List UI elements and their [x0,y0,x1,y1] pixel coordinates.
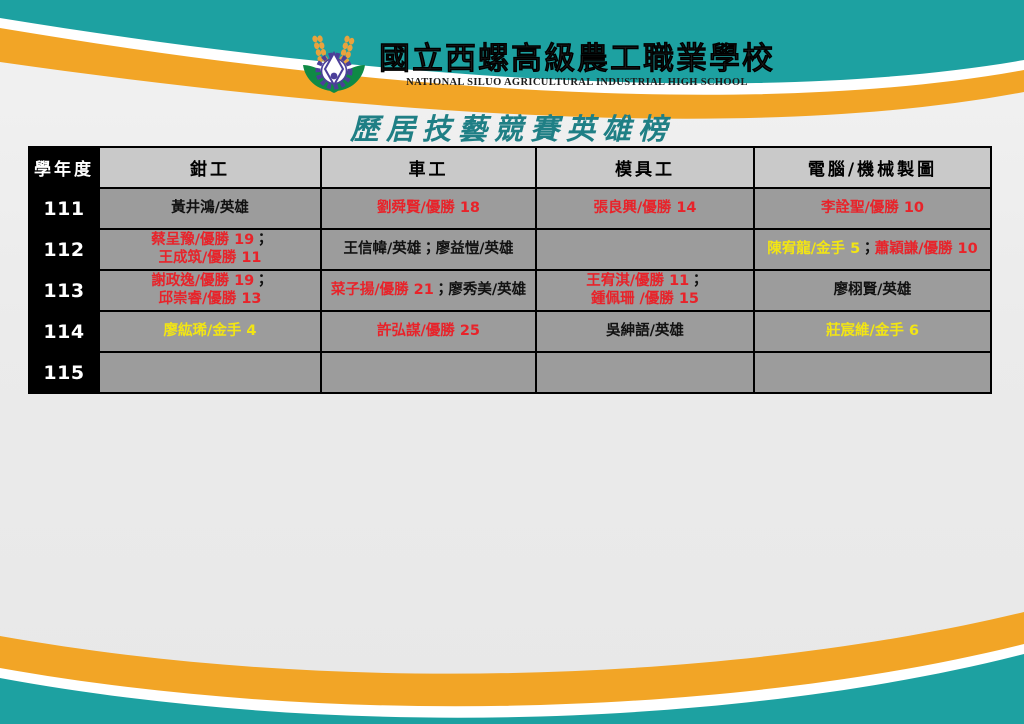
heroes-table-container: 學年度鉗工車工模具工電腦/機械製圖 111黃井鴻/英雄劉舜賢/優勝 18張良興/… [28,146,990,394]
award-cell [536,352,754,393]
year-cell: 112 [29,229,99,270]
entry-separator: ； [434,282,449,298]
table-row: 112蔡呈豫/優勝 19；王成筑/優勝 11王信幃/英雄；廖益愷/英雄陳宥龍/金… [29,229,991,270]
award-cell: 許弘謀/優勝 25 [321,311,536,352]
school-name-zh: 國立西螺高級農工職業學校 [379,44,775,75]
bottom-teal-band [0,654,1024,724]
column-header-year: 學年度 [29,147,99,188]
award-entry: 王成筑/優勝 11 [158,250,261,266]
school-crest-icon [295,33,373,99]
award-entry: 陳宥龍/金手 5 [767,241,860,257]
year-cell: 115 [29,352,99,393]
bottom-white-gap [0,644,1024,722]
year-cell: 111 [29,188,99,229]
award-entry: 黃井鴻/英雄 [171,200,249,216]
award-cell: 王宥淇/優勝 11；鍾佩珊 /優勝 15 [536,270,754,311]
bottom-orange-band [0,612,1024,710]
award-cell: 陳宥龍/金手 5；蕭穎謙/優勝 10 [754,229,991,270]
table-head: 學年度鉗工車工模具工電腦/機械製圖 [29,147,991,188]
column-header-4: 電腦/機械製圖 [754,147,991,188]
award-cell: 廖栩賢/英雄 [754,270,991,311]
award-entry: 謝政逸/優勝 19 [151,273,254,289]
award-entry: 鍾佩珊 /優勝 15 [591,291,699,307]
award-cell: 菜子揚/優勝 21；廖秀美/英雄 [321,270,536,311]
award-entry: 菜子揚/優勝 21 [331,282,434,298]
page-title: 歷居技藝競賽英雄榜 [0,106,1024,148]
entry-separator: ； [254,232,269,248]
award-entry: 吳紳語/英雄 [606,323,684,339]
award-cell: 王信幃/英雄；廖益愷/英雄 [321,229,536,270]
award-entry: 莊宸維/金手 6 [826,323,919,339]
column-header-1: 鉗工 [99,147,321,188]
entry-separator: ； [689,273,704,289]
school-name-block: 國立西螺高級農工職業學校 NATIONAL SILUO AGRICULTURAL… [379,44,775,89]
school-crest-svg [295,33,373,99]
award-entry: 邱崇睿/優勝 13 [158,291,261,307]
entry-separator: ； [860,241,875,257]
table-row: 114廖紘琋/金手 4許弘謀/優勝 25吳紳語/英雄莊宸維/金手 6 [29,311,991,352]
award-cell [321,352,536,393]
award-entry: 廖栩賢/英雄 [834,282,912,298]
award-cell [99,352,321,393]
award-cell: 黃井鴻/英雄 [99,188,321,229]
school-branding: 國立西螺高級農工職業學校 NATIONAL SILUO AGRICULTURAL… [295,33,775,99]
award-cell: 劉舜賢/優勝 18 [321,188,536,229]
slide-canvas: 國立西螺高級農工職業學校 NATIONAL SILUO AGRICULTURAL… [0,0,1024,724]
award-entry: 王宥淇/優勝 11 [586,273,689,289]
award-cell: 謝政逸/優勝 19；邱崇睿/優勝 13 [99,270,321,311]
table-header-row: 學年度鉗工車工模具工電腦/機械製圖 [29,147,991,188]
award-entry: 蔡呈豫/優勝 19 [151,232,254,248]
award-cell: 蔡呈豫/優勝 19；王成筑/優勝 11 [99,229,321,270]
award-entry: 劉舜賢/優勝 18 [377,200,480,216]
table-row: 111黃井鴻/英雄劉舜賢/優勝 18張良興/優勝 14李詮聖/優勝 10 [29,188,991,229]
entry-separator: ； [254,273,269,289]
award-entry: 王信幃/英雄；廖益愷/英雄 [343,241,513,257]
award-entry: 廖紘琋/金手 4 [164,323,257,339]
award-cell: 廖紘琋/金手 4 [99,311,321,352]
award-entry: 許弘謀/優勝 25 [377,323,480,339]
award-entry: 張良興/優勝 14 [593,200,696,216]
table-row: 115 [29,352,991,393]
header-bar: 國立西螺高級農工職業學校 NATIONAL SILUO AGRICULTURAL… [0,0,1024,104]
school-name-en: NATIONAL SILUO AGRICULTURAL INDUSTRIAL H… [406,78,748,89]
award-cell: 吳紳語/英雄 [536,311,754,352]
year-cell: 114 [29,311,99,352]
column-header-2: 車工 [321,147,536,188]
award-cell [536,229,754,270]
award-entry: 蕭穎謙/優勝 10 [875,241,978,257]
table-row: 113謝政逸/優勝 19；邱崇睿/優勝 13菜子揚/優勝 21；廖秀美/英雄王宥… [29,270,991,311]
award-cell: 張良興/優勝 14 [536,188,754,229]
award-cell: 李詮聖/優勝 10 [754,188,991,229]
award-cell: 莊宸維/金手 6 [754,311,991,352]
award-entry: 廖秀美/英雄 [448,282,526,298]
award-cell [754,352,991,393]
heroes-table: 學年度鉗工車工模具工電腦/機械製圖 111黃井鴻/英雄劉舜賢/優勝 18張良興/… [28,146,992,394]
year-cell: 113 [29,270,99,311]
award-entry: 李詮聖/優勝 10 [821,200,924,216]
table-body: 111黃井鴻/英雄劉舜賢/優勝 18張良興/優勝 14李詮聖/優勝 10112蔡… [29,188,991,393]
column-header-3: 模具工 [536,147,754,188]
